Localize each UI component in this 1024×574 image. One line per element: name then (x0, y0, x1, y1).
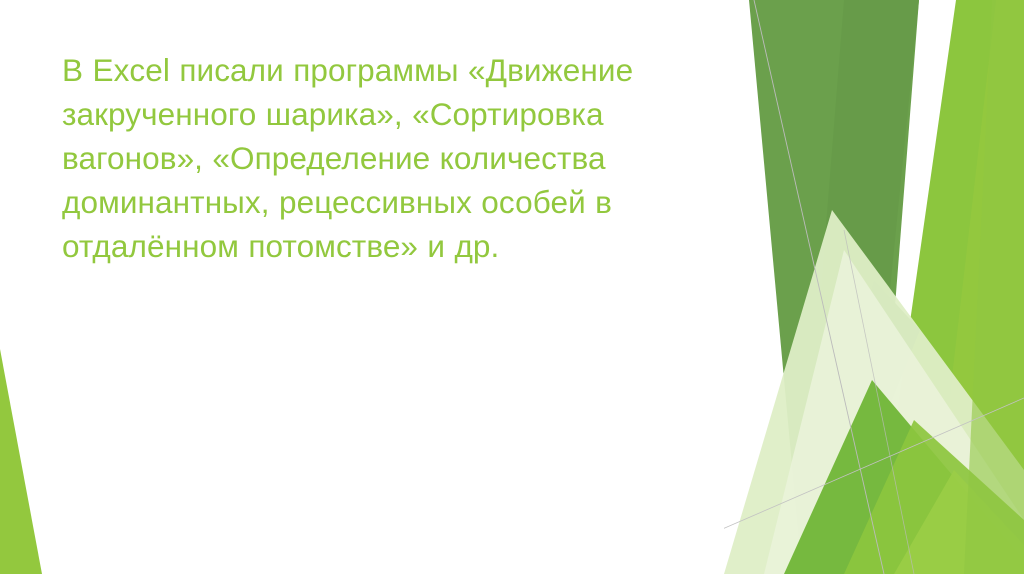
decorative-polygon-graphic-right (724, 0, 1024, 574)
slide-canvas: В Excel писали программы «Движение закру… (0, 0, 1024, 574)
decorative-accent-triangle-left (0, 334, 60, 574)
slide-body-text: В Excel писали программы «Движение закру… (62, 48, 702, 268)
